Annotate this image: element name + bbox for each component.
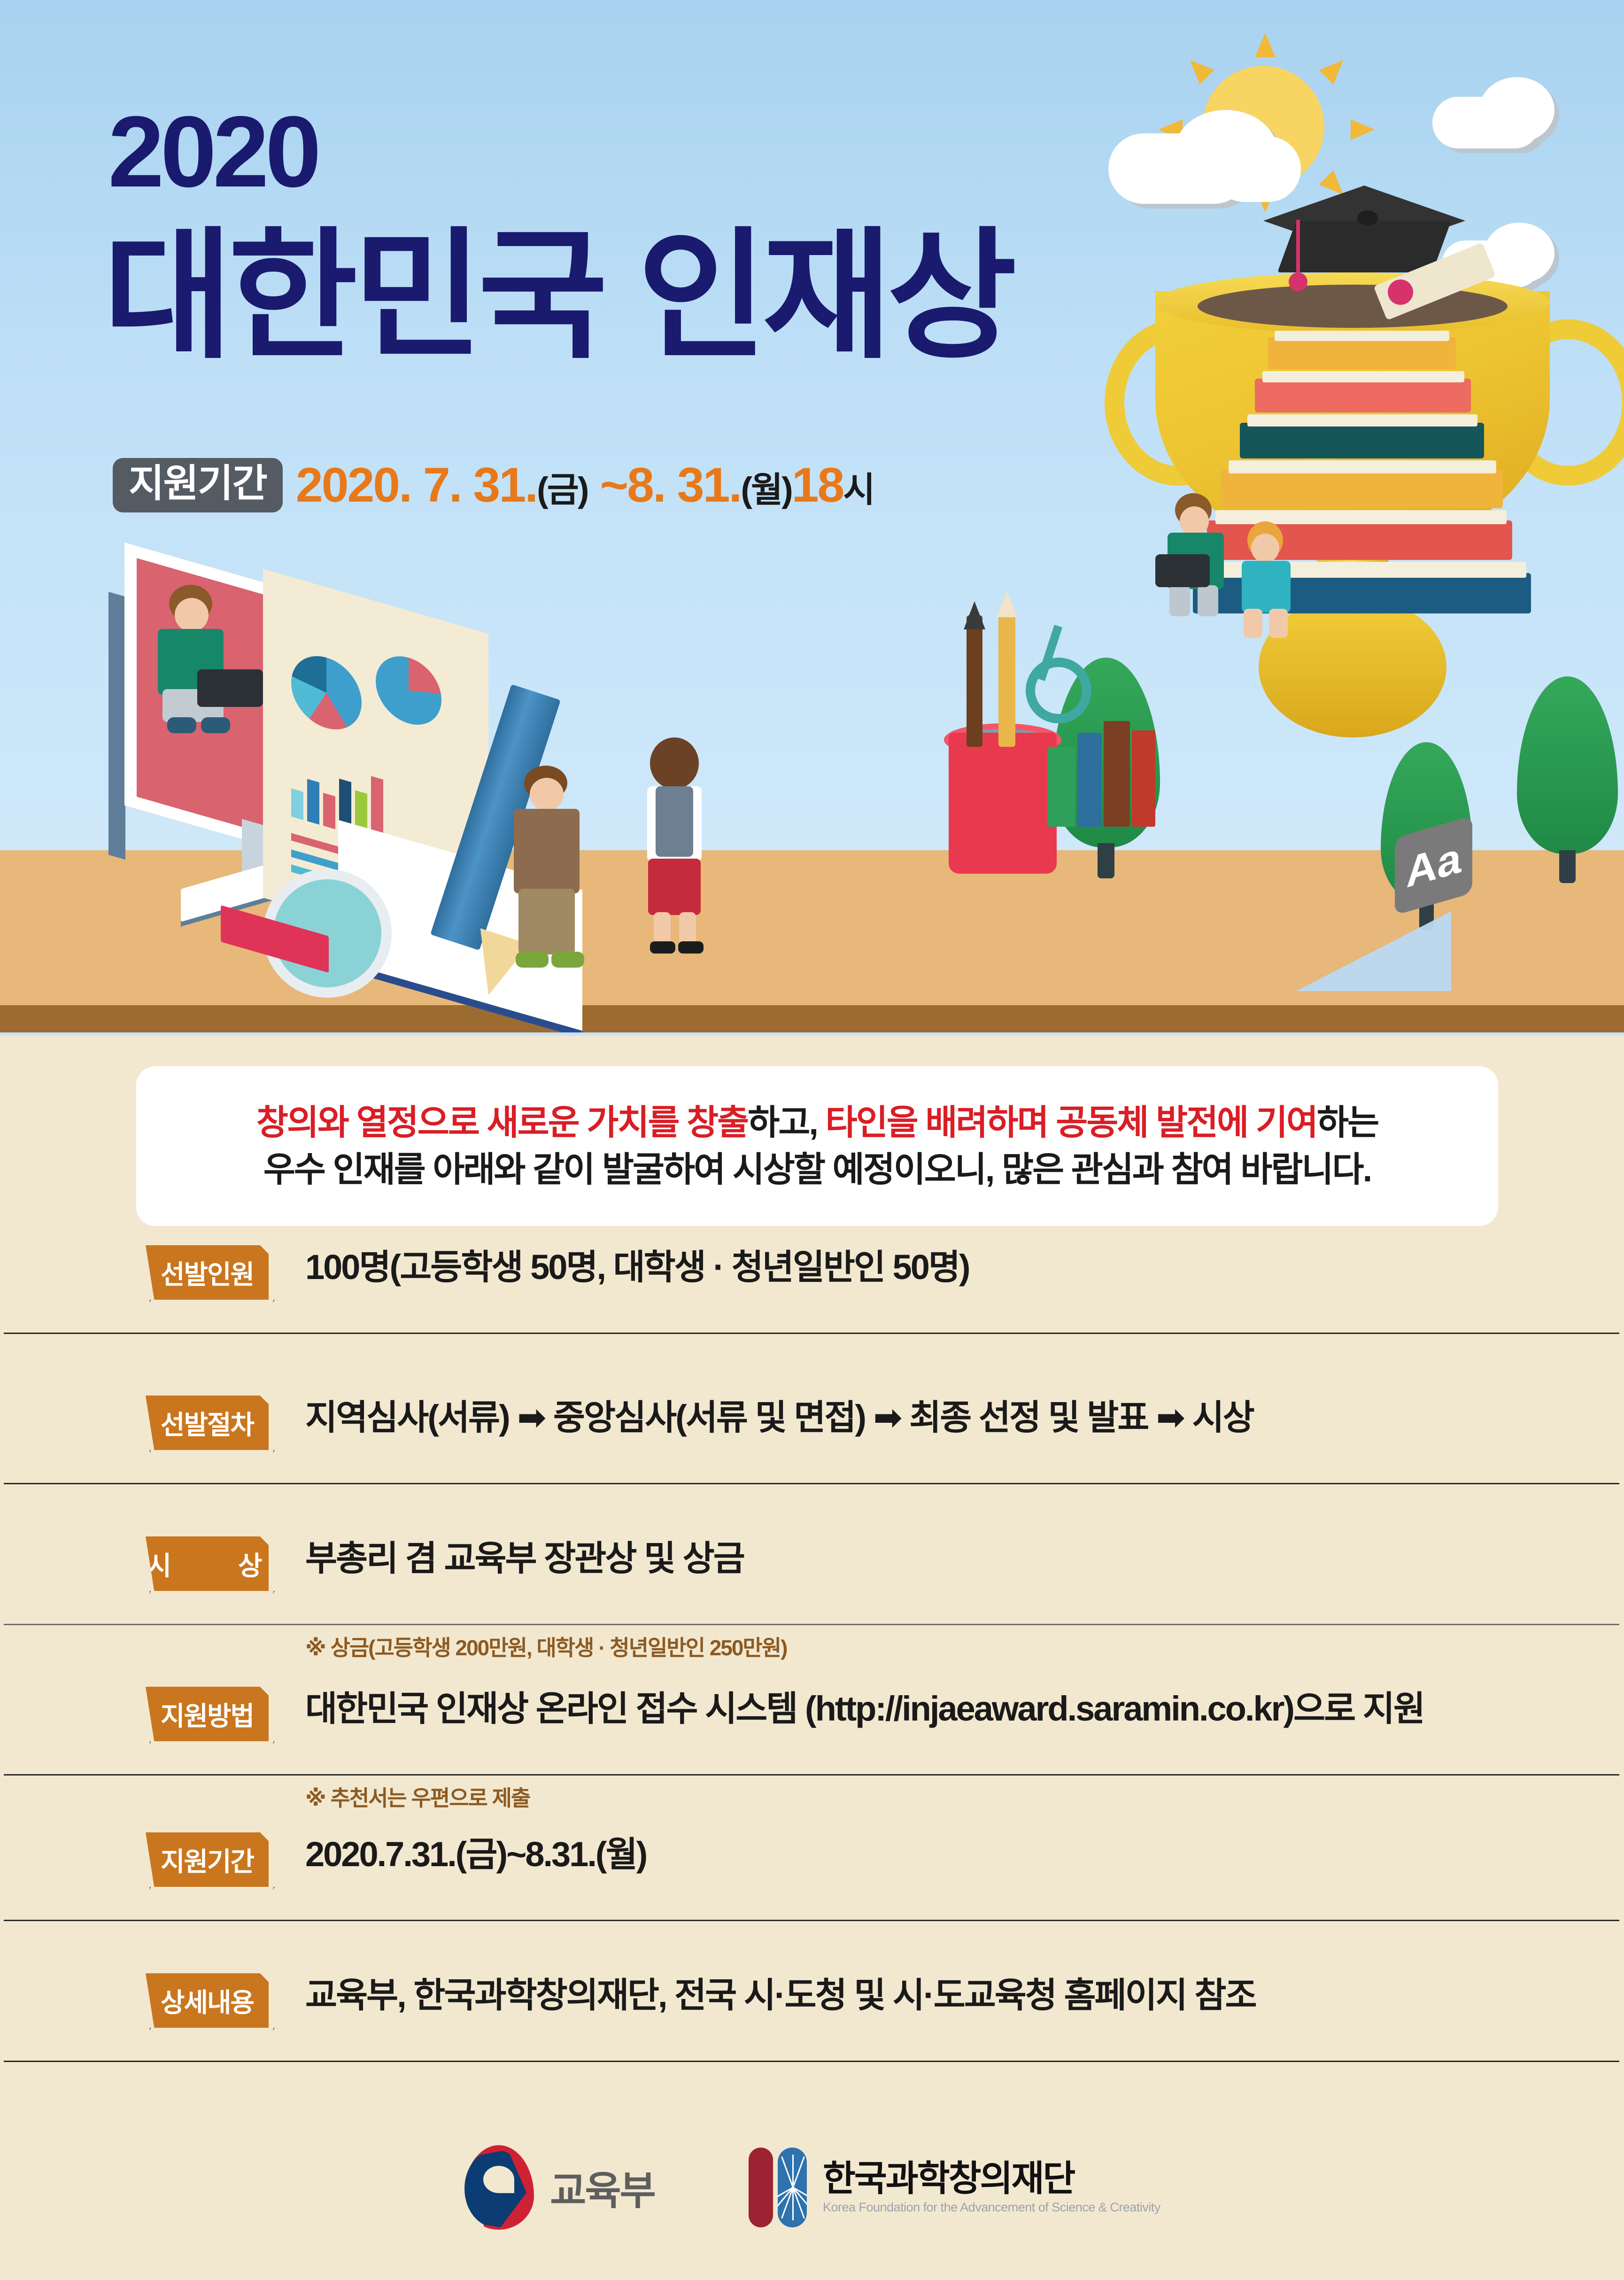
row-tag-details: 상세내용 (146, 1973, 269, 2028)
kofac-mark-icon (749, 2148, 807, 2227)
row-divider-1 (4, 1483, 1619, 1484)
poster-body: 창의와 열정으로 새로운 가치를 창출하고, 타인을 배려하며 공동체 발전에 … (0, 1037, 1624, 2280)
period-badge: 지원기간 (113, 458, 283, 512)
notice-plain-2: 하는 (1317, 1103, 1378, 1142)
notice-highlight-1: 창의와 열정으로 새로운 가치를 창출 (256, 1103, 748, 1142)
info-row-selection-process: 선발절차 지역심사(서류) ➡ 중앙심사(서류 및 면접) ➡ 최종 선정 및 … (0, 1389, 1624, 1530)
info-rows: 선발인원 100명(고등학생 50명, 대학생 · 청년일반인 50명) 선발절… (0, 1239, 1624, 2108)
hero-illustration: Aa 2020 대한민국 인재상 지원기간 2020. 7. 31.(금) ~8… (0, 0, 1624, 1036)
notice-box: 창의와 열정으로 새로운 가치를 창출하고, 타인을 배려하며 공동체 발전에 … (136, 1066, 1498, 1226)
row-tag-skirt-2 (141, 1591, 275, 1620)
moe-logo-label: 교육부 (550, 2159, 655, 2216)
pencil-small-icon (998, 611, 1015, 747)
ground-edge (0, 1005, 1624, 1032)
notice-line-1: 창의와 열정으로 새로운 가치를 창출하고, 타인을 배려하며 공동체 발전에 … (256, 1099, 1378, 1146)
kofac-logo: 한국과학창의재단 Korea Foundation for the Advanc… (749, 2148, 1160, 2227)
notice-plain-1: 하고, (748, 1103, 825, 1142)
row-note-how-to-apply: ※ 추천서는 우편으로 제출 (305, 1787, 530, 1809)
info-row-selection-count: 선발인원 100명(고등학생 50명, 대학생 · 청년일반인 50명) (0, 1239, 1624, 1389)
row-divider-0 (4, 1333, 1619, 1334)
row-text-how-to-apply: 대한민국 인재상 온라인 접수 시스템 (http://injaeaward.s… (305, 1691, 1424, 1726)
row-tag-skirt-4 (141, 1887, 275, 1916)
cloud-icon-large (1108, 108, 1315, 216)
poster-root: Aa 2020 대한민국 인재상 지원기간 2020. 7. 31.(금) ~8… (0, 0, 1624, 2280)
cloud-icon-top-right (1432, 75, 1573, 160)
footer-logos: 교육부 (0, 2117, 1624, 2258)
kofac-logo-label-en: Korea Foundation for the Advancement of … (823, 2200, 1160, 2215)
period-hour-unit: 시 (843, 470, 874, 509)
person-standing-female (629, 737, 733, 958)
poster-year: 2020 (108, 101, 317, 202)
row-divider-2 (4, 1624, 1619, 1625)
fountain-pen-icon (967, 615, 982, 747)
row-tag-selection-process: 선발절차 (146, 1396, 269, 1450)
row-tag-how-to-apply: 지원방법 (146, 1687, 269, 1741)
period-hour: 18 (792, 458, 843, 512)
person-on-monitor (146, 585, 268, 735)
notice-highlight-2: 타인을 배려하며 공동체 발전에 기여 (826, 1103, 1317, 1142)
row-divider-5 (4, 2061, 1619, 2062)
row-text-selection-count: 100명(고등학생 50명, 대학생 · 청년일반인 50명) (305, 1250, 969, 1285)
hero-divider (0, 1032, 1624, 1036)
row-tag-selection-count: 선발인원 (146, 1245, 269, 1300)
moe-logo: 교육부 (464, 2145, 655, 2230)
row-tag-skirt-3 (141, 1741, 275, 1770)
kofac-text-block: 한국과학창의재단 Korea Foundation for the Advanc… (823, 2160, 1160, 2215)
period-date-end: ~8. 31. (600, 458, 741, 512)
period-date-text: 2020. 7. 31.(금) ~8. 31.(월)18시 (296, 461, 874, 510)
row-tag-skirt-1 (141, 1450, 275, 1479)
row-text-selection-process: 지역심사(서류) ➡ 중앙심사(서류 및 면접) ➡ 최종 선정 및 발표 ➡ … (305, 1400, 1253, 1435)
scissors-icon (1026, 658, 1091, 723)
person-holding-pencil (503, 766, 606, 968)
row-text-details: 교육부, 한국과학창의재단, 전국 시·도청 및 시·도교육청 홈페이지 참조 (305, 1978, 1256, 2013)
kofac-logo-label-kr: 한국과학창의재단 (823, 2160, 1160, 2198)
period-dow-end: (월) (741, 470, 791, 509)
info-row-application-period: 지원기간 2020.7.31.(금)~8.31.(월) (0, 1826, 1624, 1967)
period-row: 지원기간 2020. 7. 31.(금) ~8. 31.(월)18시 (113, 458, 874, 512)
pen-cup-illustration (949, 733, 1057, 874)
row-note-award: ※ 상금(고등학생 200만원, 대학생 · 청년일반인 250만원) (305, 1637, 787, 1659)
taeguk-icon (464, 2145, 534, 2230)
poster-title: 대한민국 인재상 (103, 225, 1012, 366)
row-text-award: 부총리 겸 교육부 장관상 및 상금 (305, 1541, 744, 1576)
row-tag-skirt-0 (141, 1300, 275, 1329)
notice-line-2: 우수 인재를 아래와 같이 발굴하여 시상할 예정이오니, 많은 관심과 참여 … (263, 1146, 1371, 1193)
row-tag-application-period: 지원기간 (146, 1832, 269, 1887)
row-text-application-period: 2020.7.31.(금)~8.31.(월) (305, 1837, 646, 1872)
row-divider-4 (4, 1920, 1619, 1921)
period-dow-start: (금) (537, 470, 588, 509)
person-in-cup-female (1230, 521, 1315, 639)
period-date-start: 2020. 7. 31. (296, 458, 537, 512)
row-divider-3 (4, 1774, 1619, 1776)
info-row-how-to-apply: 지원방법 대한민국 인재상 온라인 접수 시스템 (http://injaeaw… (0, 1680, 1624, 1826)
info-row-award: 시 상 부총리 겸 교육부 장관상 및 상금 ※ 상금(고등학생 200만원, … (0, 1530, 1624, 1680)
row-tag-skirt-5 (141, 2028, 275, 2057)
row-tag-award: 시 상 (146, 1536, 269, 1591)
info-row-details: 상세내용 교육부, 한국과학창의재단, 전국 시·도청 및 시·도교육청 홈페이… (0, 1967, 1624, 2108)
